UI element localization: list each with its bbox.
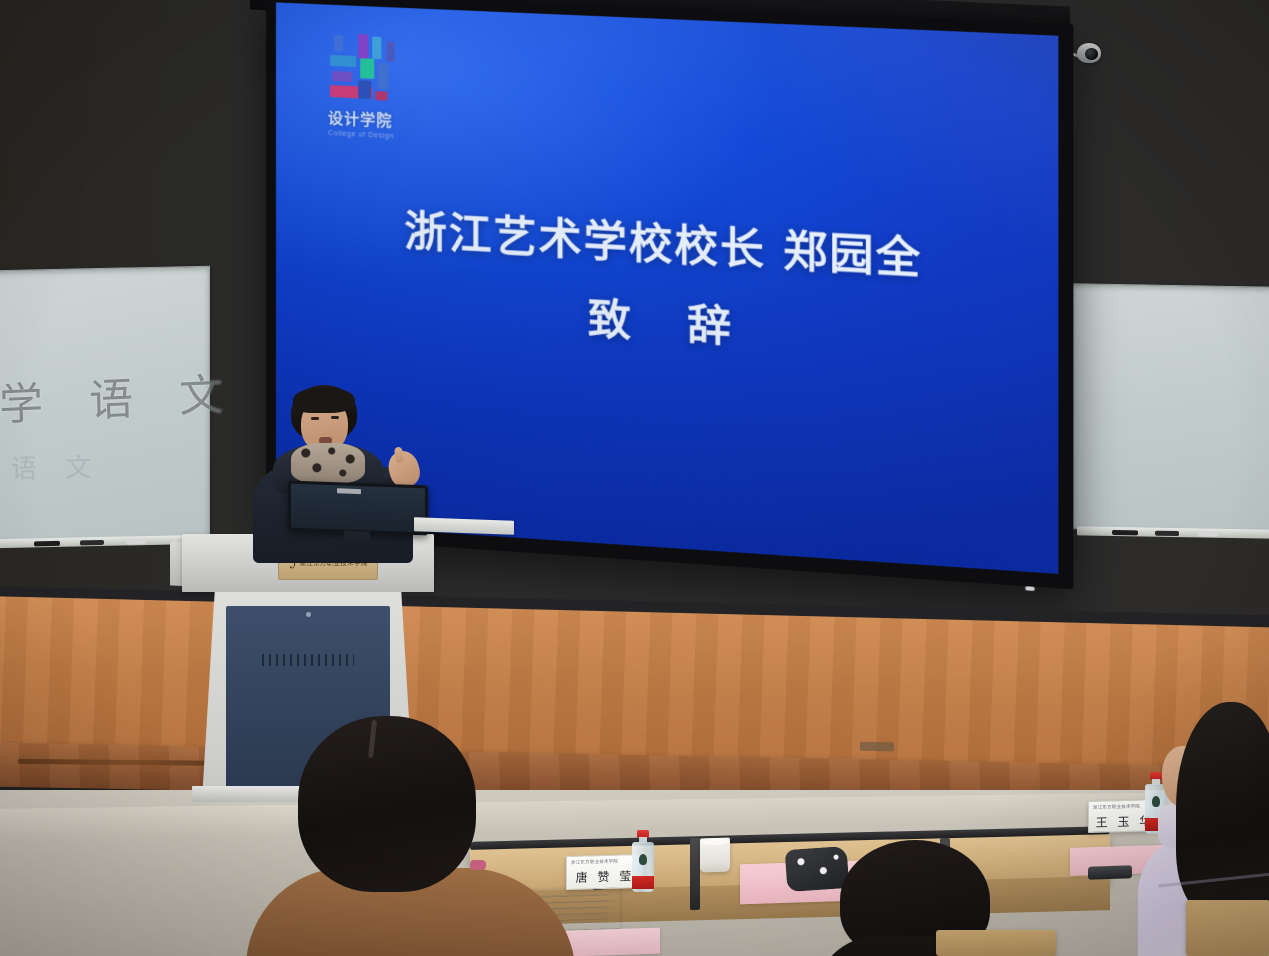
name-card-org: 浙江东方职业技术学院 (1093, 804, 1140, 811)
audience-member (258, 716, 558, 956)
podium-monitor-stand (344, 531, 370, 542)
wall-camera-icon (1073, 40, 1103, 66)
marker-black-icon (34, 541, 60, 547)
audience-hair (298, 716, 476, 892)
whiteboard-left-writing: 学 语 文 (0, 358, 240, 433)
logo-english-name: College of Design (328, 130, 415, 141)
presenter-finger (394, 447, 404, 464)
hair-clip (470, 860, 486, 870)
podium-monitor[interactable] (288, 483, 428, 545)
presenter-scarf (291, 443, 365, 483)
whiteboard-left: 学 语 文 语 文 (0, 266, 210, 543)
marker-white-icon (126, 539, 146, 544)
bottle-logo-icon (639, 854, 647, 865)
water-bottle (632, 830, 654, 892)
lectern-vent-grill (262, 654, 354, 666)
paper-cup (700, 838, 730, 873)
whiteboard-right (1072, 283, 1269, 533)
logo-chinese-name: 设计学院 (328, 107, 415, 132)
slide-logo: 设计学院 College of Design (328, 33, 415, 142)
display-power-led (1025, 586, 1035, 591)
camera-lens (1085, 48, 1098, 60)
name-card-org: 浙江东方职业技术学院 (571, 859, 618, 866)
desk-divider (690, 838, 700, 910)
bottle-label (632, 876, 654, 889)
whiteboard-left-ghost-writing: 语 文 (11, 447, 101, 486)
podium-monitor-screen (288, 481, 428, 536)
presenter-eye-left (311, 417, 319, 420)
marker-dark-icon (1155, 531, 1179, 536)
design-college-logo-icon (328, 33, 415, 109)
presenter-eye-right (331, 416, 339, 419)
slide-text-block: 浙江艺术学校校长 郑园全 致 辞 (276, 199, 1058, 374)
marker-black-icon (1112, 530, 1138, 535)
marker-dark-icon (80, 540, 104, 546)
chair-back (936, 930, 1056, 956)
lectern-indicator-dot (306, 612, 311, 617)
marker-white-icon (1198, 531, 1218, 536)
mobile-phone (1088, 865, 1132, 880)
presenter-fringe (293, 387, 355, 413)
lecture-hall-scene: 学 语 文 语 文 (0, 0, 1269, 956)
monitor-brand-strip (337, 488, 361, 494)
chair-back (1186, 900, 1269, 956)
floor-vent (860, 742, 894, 752)
